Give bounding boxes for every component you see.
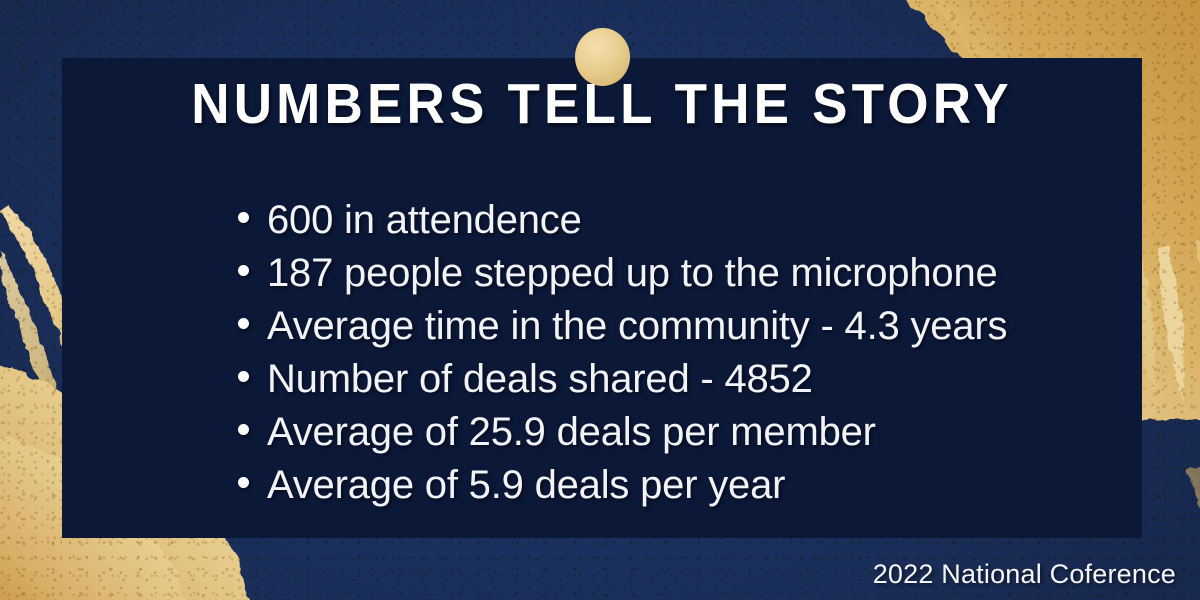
bullet-dot-icon [238, 424, 249, 435]
stats-list: 600 in attendence 187 people stepped up … [238, 198, 1098, 516]
list-item-label: 187 people stepped up to the microphone [267, 251, 998, 295]
bullet-dot-icon [238, 212, 249, 223]
list-item-label: Average of 25.9 deals per member [267, 410, 876, 454]
bullet-dot-icon [238, 371, 249, 382]
list-item-label: Number of deals shared - 4852 [267, 357, 813, 401]
bullet-dot-icon [238, 265, 249, 276]
poster-canvas: NUMBERS TELL THE STORY 600 in attendence… [0, 0, 1200, 600]
bullet-dot-icon [238, 318, 249, 329]
list-item: Average of 5.9 deals per year [238, 463, 1098, 516]
list-item: 600 in attendence [238, 198, 1098, 251]
list-item: 187 people stepped up to the microphone [238, 251, 1098, 304]
list-item-label: Average of 5.9 deals per year [267, 463, 785, 507]
page-title: NUMBERS TELL THE STORY [100, 74, 1104, 134]
list-item-label: Average time in the community - 4.3 year… [267, 304, 1007, 348]
list-item: Average time in the community - 4.3 year… [238, 304, 1098, 357]
list-item-label: 600 in attendence [267, 198, 582, 242]
gold-brush-bottom-right [1185, 460, 1200, 600]
footer-caption: 2022 National Coference [873, 558, 1176, 590]
bullet-dot-icon [238, 477, 249, 488]
list-item: Average of 25.9 deals per member [238, 410, 1098, 463]
list-item: Number of deals shared - 4852 [238, 357, 1098, 410]
